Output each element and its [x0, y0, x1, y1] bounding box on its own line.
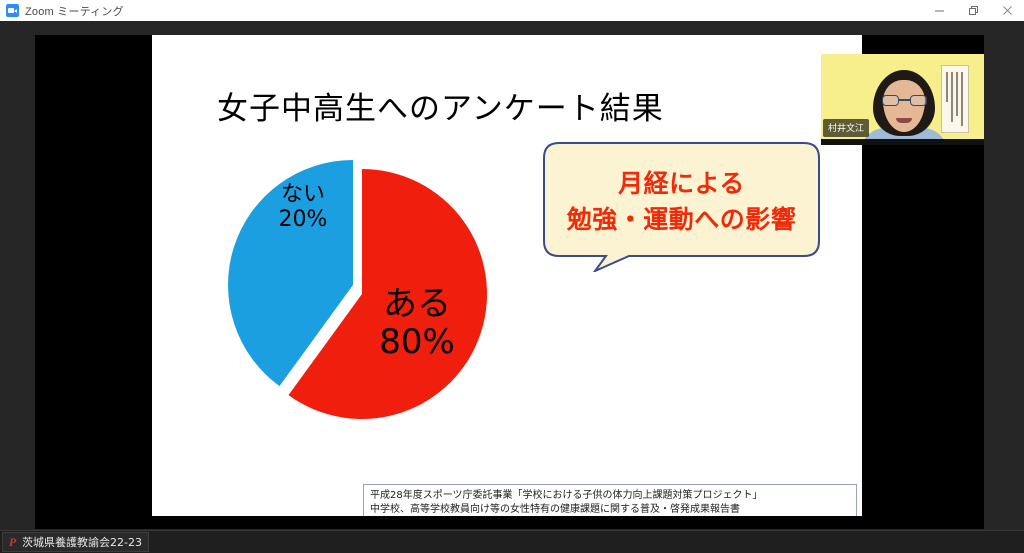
- slide-title: 女子中高生へのアンケート結果: [217, 83, 664, 128]
- minimize-icon[interactable]: [922, 0, 956, 21]
- pie-label-nai-category: ない: [281, 182, 325, 207]
- zoom-app-icon: [6, 4, 19, 17]
- pie-label-aru: ある 80%: [342, 285, 492, 361]
- glasses-icon: [882, 95, 927, 106]
- screen-share-viewport[interactable]: 女子中高生へのアンケート結果 ない 20%: [35, 35, 984, 529]
- meeting-stage: 女子中高生へのアンケート結果 ない 20%: [0, 21, 1024, 532]
- taskbar: 茨城県養護教諭会22-23: [0, 530, 1024, 553]
- restore-icon[interactable]: [956, 0, 990, 21]
- callout-bubble: 月経による 勉強・運動への影響: [543, 142, 820, 272]
- participant-mouth: [896, 118, 912, 123]
- source-line-1: 平成28年度スポーツ庁委託事業「学校における子供の体力向上課題対策プロジェクト」: [370, 489, 850, 503]
- callout-text: 月経による 勉強・運動への影響: [543, 166, 820, 239]
- callout-line-2: 勉強・運動への影響: [543, 202, 820, 238]
- pie-label-nai: ない 20%: [255, 183, 351, 232]
- source-line-2: 中学校、高等学校教員向け等の女性特有の健康課題に関する普及・啓発成果報告書: [370, 503, 850, 516]
- title-bar: Zoom ミーティング: [0, 0, 1024, 21]
- callout-line-1: 月経による: [543, 166, 820, 202]
- participant-name-badge: 村井文江: [823, 119, 869, 137]
- zoom-meeting-window: Zoom ミーティング 女子中高生へのア: [0, 0, 1024, 553]
- shared-slide: 女子中高生へのアンケート結果 ない 20%: [152, 35, 862, 516]
- source-citation-box: 平成28年度スポーツ庁委託事業「学校における子供の体力向上課題対策プロジェクト」…: [363, 484, 857, 516]
- close-icon[interactable]: [990, 0, 1024, 21]
- pie-label-nai-value: 20%: [255, 208, 351, 233]
- taskbar-item-powerpoint[interactable]: 茨城県養護教諭会22-23: [2, 532, 149, 552]
- window-title: Zoom ミーティング: [25, 3, 124, 19]
- pie-label-aru-category: ある: [383, 284, 451, 324]
- window-controls: [922, 0, 1024, 21]
- taskbar-item-label: 茨城県養護教諭会22-23: [22, 534, 142, 550]
- pie-chart-svg: [197, 139, 527, 429]
- video-letterbox: [821, 139, 984, 145]
- pie-chart: ない 20% ある 80%: [197, 139, 527, 429]
- powerpoint-icon: [7, 536, 18, 549]
- hanging-scroll-decoration: [941, 65, 969, 133]
- participant-video-thumbnail[interactable]: 村井文江: [821, 54, 984, 145]
- pie-label-aru-value: 80%: [342, 323, 492, 361]
